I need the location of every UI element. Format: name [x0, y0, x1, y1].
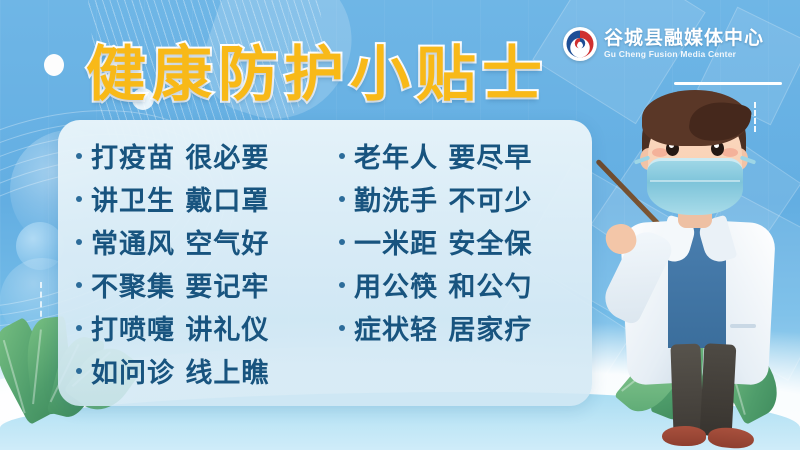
bullet-icon — [76, 153, 82, 159]
media-center-logo: 谷城县融媒体中心 Gu Cheng Fusion Media Center — [563, 27, 764, 61]
list-item: 一米距 安全保 — [339, 220, 592, 263]
dashed-line-3 — [40, 282, 42, 336]
tip-label: 如问诊 线上瞧 — [91, 351, 269, 390]
tip-label: 讲卫生 戴口罩 — [91, 179, 269, 218]
list-item: 如问诊 线上瞧 — [76, 349, 329, 392]
white-rule-line — [674, 82, 782, 85]
page-title: 健康防护小贴士 — [86, 26, 548, 113]
white-dot-1 — [44, 54, 64, 76]
bullet-icon — [76, 239, 82, 245]
face-mask-icon — [647, 158, 743, 215]
coat-pocket — [730, 324, 756, 328]
list-item: 老年人 要尽早 — [339, 134, 592, 177]
bullet-icon — [76, 325, 82, 331]
tips-left-column: 打疫苗 很必要 讲卫生 戴口罩 常通风 空气好 不聚集 要记牢 打喷嚏 讲礼仪 … — [58, 134, 329, 396]
logo-name-en: Gu Cheng Fusion Media Center — [604, 49, 764, 59]
tip-label: 不聚集 要记牢 — [91, 265, 269, 304]
list-item: 常通风 空气好 — [76, 220, 329, 263]
tip-label: 一米距 安全保 — [354, 222, 532, 261]
soft-glow-blob-2 — [16, 222, 64, 270]
bullet-icon — [339, 196, 345, 202]
list-item: 用公筷 和公勺 — [339, 263, 592, 306]
shoe-left — [662, 426, 706, 446]
bullet-icon — [339, 282, 345, 288]
shoe-right — [707, 426, 755, 450]
tip-label: 老年人 要尽早 — [354, 136, 532, 175]
list-item: 打喷嚏 讲礼仪 — [76, 306, 329, 349]
logo-text-block: 谷城县融媒体中心 Gu Cheng Fusion Media Center — [604, 29, 764, 60]
pants-right-leg — [700, 343, 737, 437]
bullet-icon — [339, 153, 345, 159]
bullet-icon — [76, 282, 82, 288]
tip-label: 常通风 空气好 — [91, 222, 269, 261]
bullet-icon — [339, 239, 345, 245]
list-item: 症状轻 居家疗 — [339, 306, 592, 349]
tip-label: 症状轻 居家疗 — [354, 308, 532, 347]
tip-label: 用公筷 和公勺 — [354, 265, 532, 304]
tips-panel: 打疫苗 很必要 讲卫生 戴口罩 常通风 空气好 不聚集 要记牢 打喷嚏 讲礼仪 … — [58, 120, 592, 406]
list-item: 讲卫生 戴口罩 — [76, 177, 329, 220]
tips-right-column: 老年人 要尽早 勤洗手 不可少 一米距 安全保 用公筷 和公勺 症状轻 居家疗 — [329, 134, 592, 396]
list-item: 不聚集 要记牢 — [76, 263, 329, 306]
list-item: 打疫苗 很必要 — [76, 134, 329, 177]
tip-label: 勤洗手 不可少 — [354, 179, 532, 218]
blush-right — [722, 148, 738, 157]
bullet-icon — [76, 196, 82, 202]
bullet-icon — [339, 325, 345, 331]
list-item: 勤洗手 不可少 — [339, 177, 592, 220]
bullet-icon — [76, 368, 82, 374]
swirl-logo-icon — [563, 27, 597, 61]
tip-label: 打喷嚏 讲礼仪 — [91, 308, 269, 347]
health-tips-poster: 健康防护小贴士 谷城县融媒体中心 Gu Cheng Fusion Media C… — [0, 0, 800, 450]
pants-left-leg — [670, 344, 703, 437]
tip-label: 打疫苗 很必要 — [91, 136, 269, 175]
logo-name-cn: 谷城县融媒体中心 — [604, 29, 764, 49]
mask-fold-line — [650, 180, 740, 182]
doctor-illustration — [598, 96, 800, 450]
